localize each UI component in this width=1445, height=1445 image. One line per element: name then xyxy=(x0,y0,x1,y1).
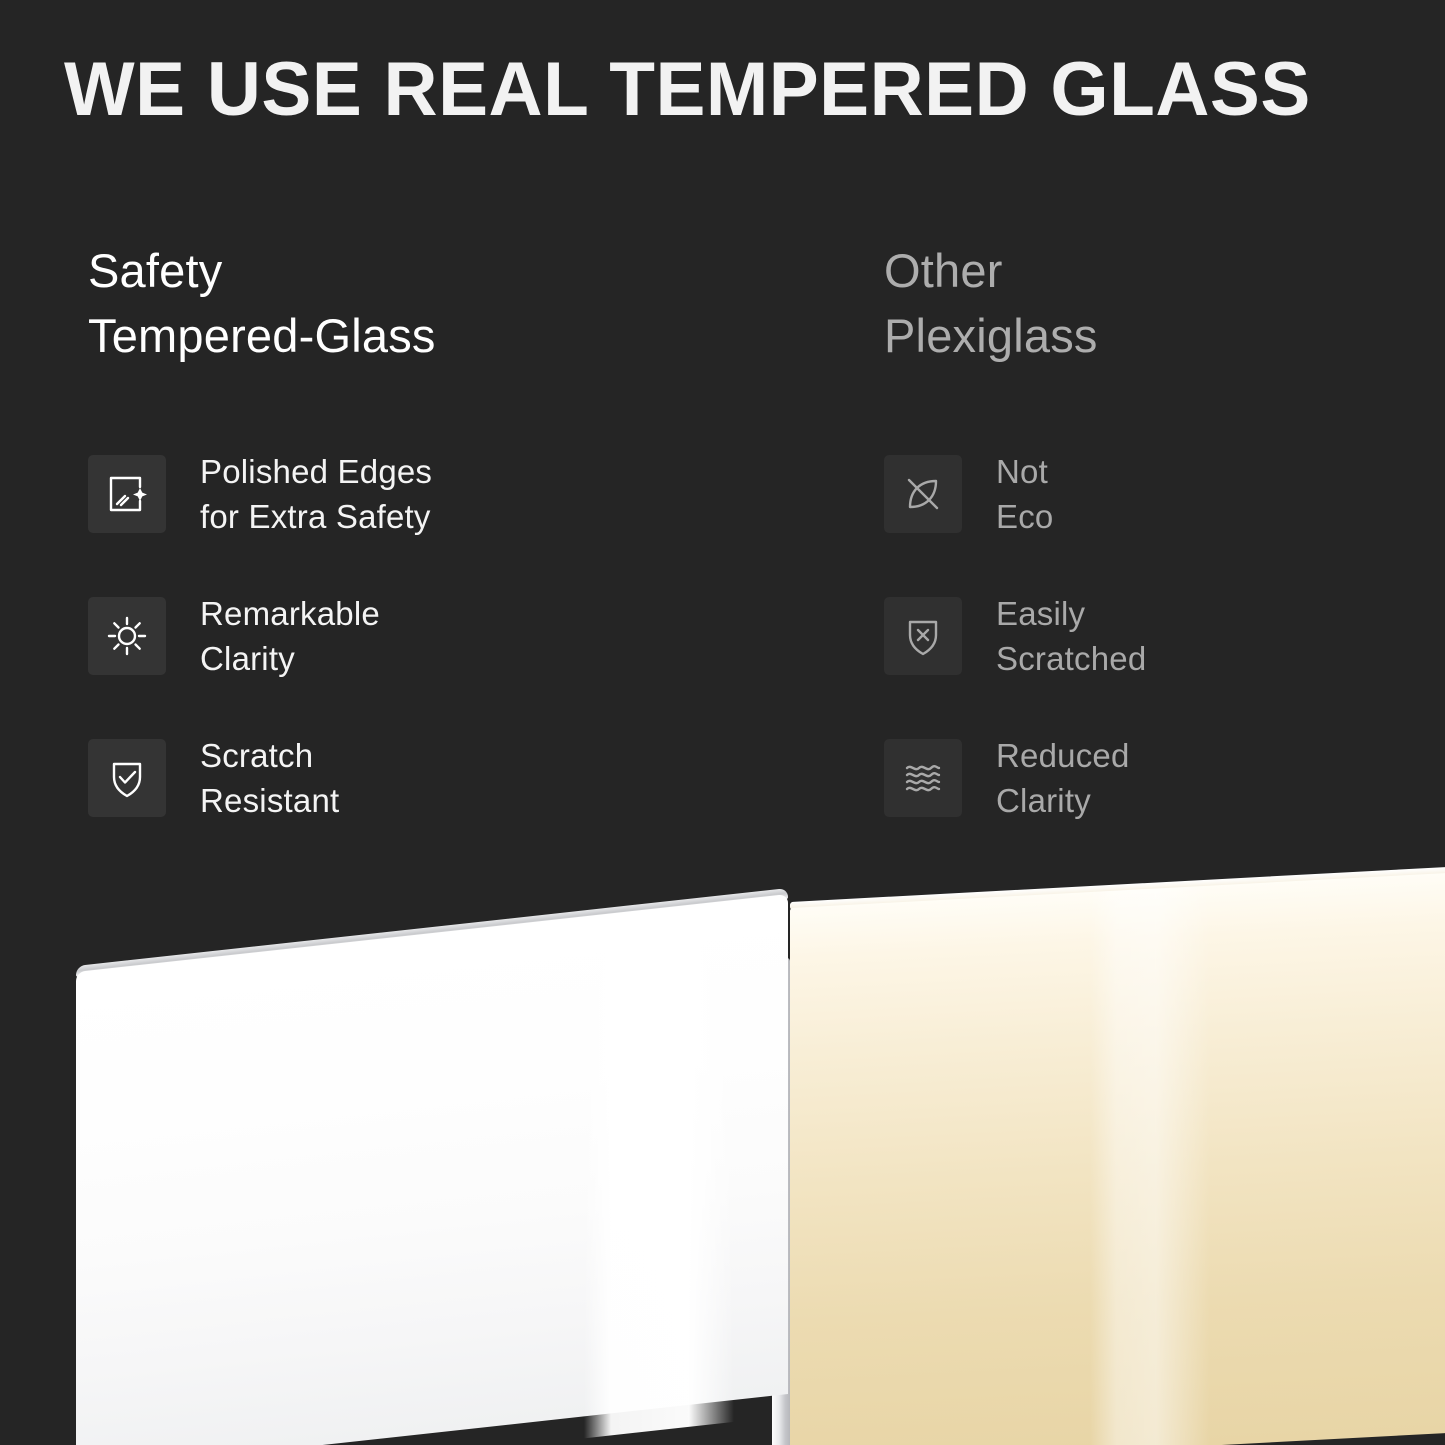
polished-glass-sparkle-icon xyxy=(88,455,166,533)
column-title-left: Safety Tempered-Glass xyxy=(88,238,848,368)
feature-label: Easily Scratched xyxy=(996,591,1146,681)
sun-brightness-icon xyxy=(88,597,166,675)
wavy-lines-icon xyxy=(884,739,962,817)
feature-row: Remarkable Clarity xyxy=(88,588,848,684)
feature-row: Reduced Clarity xyxy=(884,730,1404,826)
feature-list-right: Not Eco Easily Scratched xyxy=(884,446,1404,826)
feature-row: Scratch Resistant xyxy=(88,730,848,826)
feature-list-left: Polished Edges for Extra Safety Remarkab… xyxy=(88,446,848,826)
column-other-plexiglass: Other Plexiglass Not Eco xyxy=(884,238,1404,368)
feature-label: Not Eco xyxy=(996,449,1053,539)
plexiglass-panel xyxy=(790,868,1445,1445)
column-safety-tempered-glass: Safety Tempered-Glass Polished Edges for… xyxy=(88,238,848,368)
product-comparison-photo xyxy=(0,840,1445,1445)
feature-row: Not Eco xyxy=(884,446,1404,542)
feature-row: Easily Scratched xyxy=(884,588,1404,684)
leaf-crossed-out-icon xyxy=(884,455,962,533)
tempered-glass-comparison-graphic: WE USE REAL TEMPERED GLASS Safety Temper… xyxy=(0,0,1445,1445)
feature-label: Scratch Resistant xyxy=(200,733,339,823)
feature-label: Remarkable Clarity xyxy=(200,591,380,681)
feature-label: Reduced Clarity xyxy=(996,733,1130,823)
shield-x-icon xyxy=(884,597,962,675)
tempered-glass-panel xyxy=(76,894,788,1445)
feature-label: Polished Edges for Extra Safety xyxy=(200,449,432,539)
feature-row: Polished Edges for Extra Safety xyxy=(88,446,848,542)
column-title-right: Other Plexiglass xyxy=(884,238,1404,368)
shield-check-icon xyxy=(88,739,166,817)
page-title: WE USE REAL TEMPERED GLASS xyxy=(64,44,1374,136)
